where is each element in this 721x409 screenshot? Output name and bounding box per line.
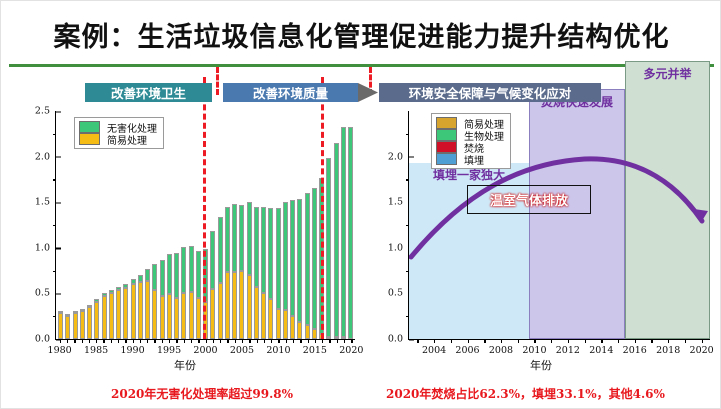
x-axis-tick — [501, 339, 502, 343]
bar — [94, 299, 99, 339]
x-axis-tick — [651, 339, 652, 343]
chart-right-plot: 填埋一家独大 焚烧快速发展 多元并举 温室气体排放 简易处理生物处理焚烧填埋 0… — [408, 111, 710, 340]
bar — [297, 199, 302, 339]
x-axis-tick — [685, 339, 686, 343]
bar-segment — [232, 204, 237, 271]
x-axis-tick — [286, 339, 287, 343]
bar — [254, 207, 259, 339]
y-axis-minor-tick — [53, 225, 56, 226]
bar — [283, 202, 288, 339]
x-axis-label: 1995 — [157, 345, 181, 356]
bar — [131, 279, 136, 339]
bar-segment — [218, 283, 223, 339]
bar — [218, 217, 223, 339]
bar — [152, 264, 157, 339]
y-axis-tick: 0.5 — [388, 288, 409, 299]
bar-segment — [87, 307, 92, 339]
x-axis-label: 2010 — [266, 345, 290, 356]
bar-segment — [116, 290, 121, 339]
chart-left-marker-2000 — [203, 77, 206, 339]
bar-segment — [210, 231, 215, 288]
bar-segment — [80, 311, 85, 339]
bar — [276, 208, 281, 339]
region-diversified: 多元并举 — [625, 61, 710, 339]
ghg-callout-box: 温室气体排放 — [467, 185, 591, 214]
x-axis-tick — [417, 339, 418, 343]
x-axis-tick — [484, 339, 485, 343]
bar-segment — [261, 207, 266, 294]
x-axis-tick — [551, 339, 552, 343]
y-axis-minor-tick — [53, 271, 56, 272]
bar-segment — [348, 127, 353, 339]
bar-segment — [247, 275, 252, 339]
x-axis-tick — [618, 339, 619, 343]
bar — [123, 284, 128, 339]
x-axis-tick — [154, 339, 155, 343]
chart-left-legend: 无害化处理简易处理 — [74, 117, 164, 149]
bar-segment — [232, 272, 237, 339]
legend-swatch — [79, 133, 100, 145]
bar-segment — [276, 208, 281, 309]
bar-segment — [102, 296, 107, 339]
bar — [305, 193, 310, 339]
x-axis-label: 2020 — [690, 345, 714, 356]
y-axis-tick: 1.5 — [35, 197, 56, 208]
bar-segment — [254, 207, 259, 287]
x-axis-tick — [235, 339, 236, 343]
footnote-left: 2020年无害化处理率超过99.8% — [111, 385, 293, 402]
stage-banner-1: 改善环境卫生 — [85, 83, 212, 102]
bar — [145, 269, 150, 339]
bar-segment — [73, 313, 78, 339]
bar — [102, 293, 107, 339]
bar — [58, 311, 63, 339]
bar-segment — [254, 287, 259, 339]
x-axis-label: 2012 — [556, 345, 580, 356]
bar-segment — [196, 298, 201, 339]
x-axis-tick — [213, 339, 214, 343]
bar-segment — [334, 143, 339, 337]
x-axis-tick — [133, 339, 134, 343]
chart-left-marker-2016 — [321, 77, 324, 339]
bar-segment — [239, 205, 244, 271]
x-axis-tick — [264, 339, 265, 343]
x-axis-label: 2005 — [230, 345, 254, 356]
x-axis-tick — [329, 339, 330, 343]
region-incineration-growth: 焚烧快速发展 — [529, 89, 625, 339]
x-axis-tick — [242, 339, 243, 343]
bar — [334, 143, 339, 339]
x-axis-tick — [125, 339, 126, 343]
bar-segment — [181, 247, 186, 293]
bar — [189, 246, 194, 339]
x-axis-tick — [271, 339, 272, 343]
x-axis-tick — [344, 339, 345, 343]
bar-segment — [225, 272, 230, 339]
bar-segment — [189, 292, 194, 339]
bar-segment — [261, 293, 266, 339]
x-axis-tick — [169, 339, 170, 343]
y-axis-tick: 0.5 — [35, 288, 56, 299]
x-axis-tick — [322, 339, 323, 343]
y-axis-tick: 1.0 — [35, 242, 56, 253]
chart-right-legend: 简易处理生物处理焚烧填埋 — [431, 113, 511, 169]
bar-segment — [189, 246, 194, 292]
bar-segment — [174, 298, 179, 339]
x-axis-tick — [451, 339, 452, 343]
bar-segment — [283, 202, 288, 310]
chart-right-xlabel: 年份 — [366, 357, 716, 373]
legend-item: 简易处理 — [79, 133, 157, 145]
x-axis-label: 1985 — [84, 345, 108, 356]
x-axis-tick — [147, 339, 148, 343]
bar — [326, 158, 331, 339]
x-axis-label: 2020 — [339, 345, 363, 356]
x-axis-tick — [668, 339, 669, 343]
y-axis-tick: 1.5 — [388, 197, 409, 208]
bar — [239, 205, 244, 339]
bar-segment — [160, 296, 165, 339]
y-axis-minor-tick — [53, 134, 56, 135]
bar — [348, 127, 353, 339]
y-axis-tick: 2.0 — [35, 151, 56, 162]
bar-segment — [123, 288, 128, 339]
x-axis-tick — [308, 339, 309, 343]
bar — [268, 208, 273, 339]
bar-segment — [109, 293, 114, 340]
x-axis-tick — [249, 339, 250, 343]
title-divider — [9, 64, 714, 67]
bar — [160, 260, 165, 339]
x-axis-tick — [60, 339, 61, 343]
x-axis-label: 1990 — [120, 345, 144, 356]
bar-segment — [312, 329, 317, 339]
bar — [312, 188, 317, 339]
x-axis-tick — [184, 339, 185, 343]
legend-swatch — [436, 153, 457, 165]
y-axis-tick: 1.0 — [388, 242, 409, 253]
x-axis-tick — [315, 339, 316, 343]
y-axis-minor-tick — [406, 134, 409, 135]
x-axis-tick — [162, 339, 163, 343]
bar — [225, 207, 230, 339]
bar-segment — [167, 294, 172, 339]
y-axis-minor-tick — [53, 316, 56, 317]
x-axis-label: 2016 — [623, 345, 647, 356]
bar — [290, 200, 295, 339]
bar — [167, 254, 172, 339]
bar-segment — [283, 310, 288, 339]
bar-segment — [239, 271, 244, 339]
chart-right: 城市生活垃圾处理量（亿吨） 填埋一家独大 焚烧快速发展 多元并举 温室气体排放 … — [366, 101, 716, 369]
bar-segment — [305, 325, 310, 339]
y-axis-tick: 2.0 — [388, 151, 409, 162]
bar-segment — [181, 293, 186, 340]
x-axis-label: 1980 — [48, 345, 72, 356]
x-axis-tick — [568, 339, 569, 343]
stage-banner-2-label: 改善环境质量 — [253, 83, 328, 102]
bar-segment — [196, 251, 201, 298]
bar — [210, 231, 215, 339]
x-axis-label: 2010 — [522, 345, 546, 356]
x-axis-tick — [96, 339, 97, 343]
x-axis-tick — [702, 339, 703, 343]
bar-segment — [305, 193, 310, 325]
chart-left-plot: 无害化处理简易处理 0.00.51.01.52.02.5198019851990… — [55, 111, 355, 340]
x-axis-tick — [300, 339, 301, 343]
bar — [174, 253, 179, 339]
bar — [116, 287, 121, 339]
bar-segment — [138, 282, 143, 339]
page-title: 案例：生活垃圾信息化管理促进能力提升结构优化 — [9, 5, 714, 63]
bar-segment — [145, 281, 150, 339]
bar — [247, 202, 252, 339]
y-axis-tick: 0.0 — [35, 334, 56, 345]
legend-swatch — [436, 129, 457, 141]
bar-segment — [160, 260, 165, 296]
legend-swatch — [436, 141, 457, 153]
x-axis-tick — [206, 339, 207, 343]
x-axis-tick — [191, 339, 192, 343]
x-axis-label: 2006 — [455, 345, 479, 356]
ghg-callout-label: 温室气体排放 — [490, 190, 568, 209]
bar-segment — [297, 199, 302, 322]
x-axis-tick — [337, 339, 338, 343]
bar-segment — [276, 309, 281, 339]
x-axis-tick — [468, 339, 469, 343]
footnote-right: 2020年焚烧占比62.3%，填埋33.1%，其他4.6% — [386, 385, 665, 402]
bar-segment — [290, 316, 295, 339]
bar-segment — [268, 208, 273, 299]
page-title-text: 案例：生活垃圾信息化管理促进能力提升结构优化 — [54, 15, 670, 54]
y-axis-tick: 0.0 — [388, 334, 409, 345]
chart-left-xlabel: 年份 — [9, 357, 361, 373]
x-axis-tick — [176, 339, 177, 343]
x-axis-tick — [601, 339, 602, 343]
bar — [109, 290, 114, 339]
x-axis-tick — [518, 339, 519, 343]
bar — [138, 275, 143, 339]
x-axis-tick — [257, 339, 258, 343]
x-axis-tick — [434, 339, 435, 343]
stage-banner-2: 改善环境质量 — [223, 83, 358, 102]
x-axis-tick — [111, 339, 112, 343]
arrow-right-icon — [358, 83, 378, 102]
x-axis-tick — [220, 339, 221, 343]
stage-banner-1-label: 改善环境卫生 — [111, 83, 186, 102]
x-axis-label: 2008 — [489, 345, 513, 356]
x-axis-tick — [278, 339, 279, 343]
x-axis-tick — [351, 339, 352, 343]
bar — [261, 207, 266, 339]
legend-label: 填埋 — [464, 152, 484, 167]
region-diversified-label: 多元并举 — [626, 65, 709, 82]
bar-segment — [268, 299, 273, 339]
bar-segment — [152, 264, 157, 290]
bar — [196, 251, 201, 339]
bar-segment — [131, 284, 136, 339]
x-axis-tick — [585, 339, 586, 343]
x-axis-tick — [89, 339, 90, 343]
bar-segment — [138, 275, 143, 282]
x-axis-tick — [140, 339, 141, 343]
bar-segment — [297, 322, 302, 339]
x-axis-tick — [103, 339, 104, 343]
bar-segment — [65, 316, 70, 339]
bar-segment — [341, 127, 346, 337]
bar-segment — [247, 202, 252, 275]
bar-segment — [312, 188, 317, 329]
bar — [341, 127, 346, 339]
x-axis-tick — [293, 339, 294, 343]
x-axis-tick — [534, 339, 535, 343]
x-axis-label: 2000 — [193, 345, 217, 356]
bar-segment — [326, 158, 331, 337]
x-axis-tick — [227, 339, 228, 343]
legend-item: 填埋 — [436, 153, 504, 165]
y-axis-minor-tick — [53, 179, 56, 180]
bar-segment — [290, 200, 295, 316]
x-axis-tick — [198, 339, 199, 343]
stage-banner-3: 环境安全保障与气候变化应对 — [379, 83, 601, 102]
bar — [73, 311, 78, 339]
bar-segment — [174, 253, 179, 298]
legend-swatch — [79, 121, 100, 133]
bar-segment — [210, 289, 215, 339]
legend-swatch — [436, 117, 457, 129]
bar-segment — [94, 302, 99, 339]
bar-segment — [218, 217, 223, 284]
timeline-divider-2000 — [216, 67, 219, 95]
bar — [181, 247, 186, 339]
bar-segment — [145, 269, 150, 281]
bar — [87, 305, 92, 339]
bar-segment — [167, 254, 172, 294]
bar-segment — [58, 313, 63, 339]
bar — [65, 314, 70, 339]
stage-banner-3-label: 环境安全保障与气候变化应对 — [409, 83, 572, 102]
x-axis-tick — [74, 339, 75, 343]
bar-segment — [152, 290, 157, 339]
x-axis-tick — [67, 339, 68, 343]
chart-left: 城市生活垃圾清运量（亿吨） 无害化处理简易处理 0.00.51.01.52.02… — [9, 101, 361, 369]
slide-canvas: 案例：生活垃圾信息化管理促进能力提升结构优化 改善环境卫生 改善环境质量 环境安… — [0, 0, 721, 409]
x-axis-label: 2018 — [656, 345, 680, 356]
x-axis-label: 2015 — [303, 345, 327, 356]
x-axis-tick — [118, 339, 119, 343]
x-axis-tick — [635, 339, 636, 343]
x-axis-label: 2014 — [589, 345, 613, 356]
legend-label: 简易处理 — [107, 132, 147, 147]
x-axis-tick — [82, 339, 83, 343]
y-axis-tick: 2.5 — [35, 106, 56, 117]
x-axis-label: 2004 — [422, 345, 446, 356]
bar — [232, 204, 237, 339]
bar — [80, 309, 85, 339]
bar-segment — [225, 207, 230, 273]
